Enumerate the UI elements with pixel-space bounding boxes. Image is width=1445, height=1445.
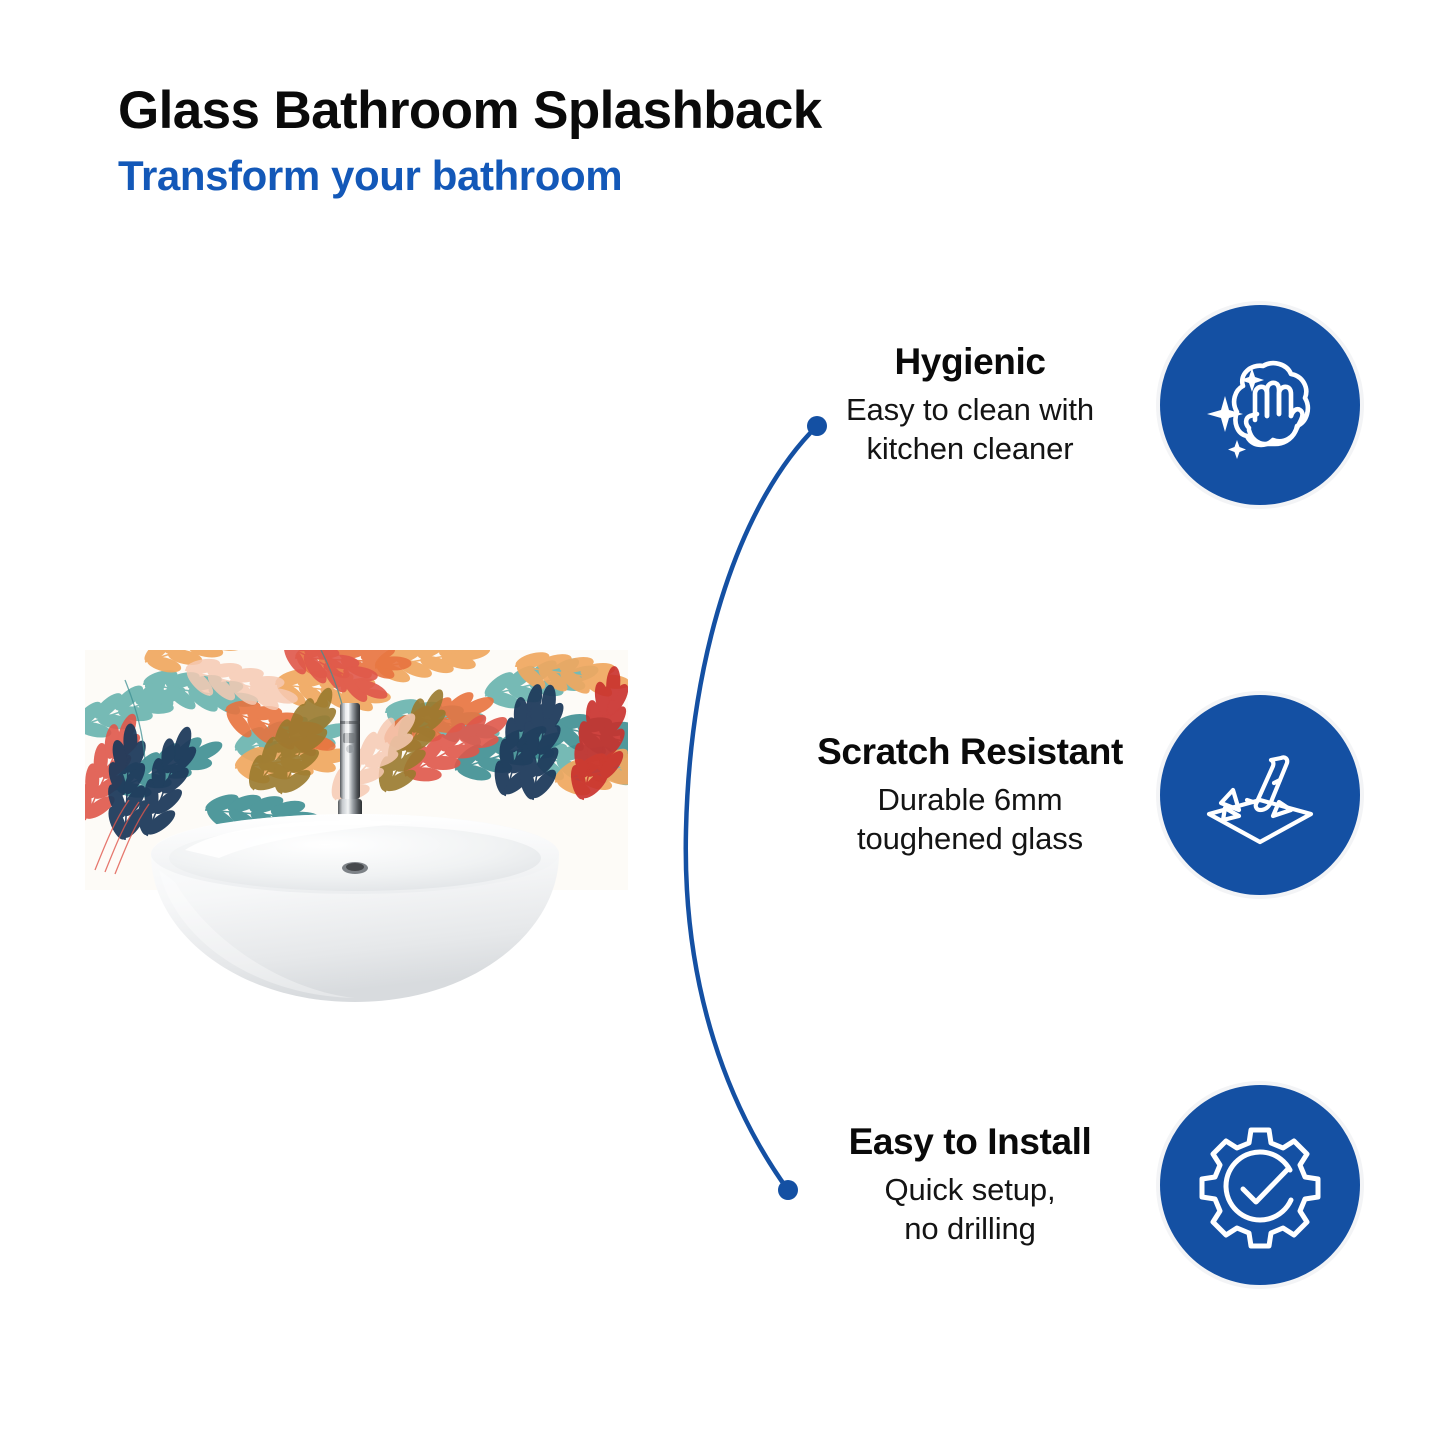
feature-description: Durable 6mm toughened glass (800, 780, 1140, 859)
knife-scratching-surface-icon (1160, 695, 1360, 895)
connector-curve (686, 426, 817, 1190)
infographic-canvas: Glass Bathroom Splashback Transform your… (0, 0, 1445, 1445)
feature-desc-line-1: Easy to clean with (800, 390, 1140, 430)
feature-desc-line-2: kitchen cleaner (800, 429, 1140, 469)
feature-desc-line-1: Durable 6mm (800, 780, 1140, 820)
feature-text-hygienic: Hygienic Easy to clean with kitchen clea… (800, 341, 1150, 469)
hand-wiping-cloth-sparkle-icon (1160, 305, 1360, 505)
feature-text-scratch-resistant: Scratch Resistant Durable 6mm toughened … (800, 731, 1150, 859)
product-photo (85, 650, 628, 1010)
connector-dot-bottom (778, 1180, 798, 1200)
ceramic-basin-icon (145, 810, 565, 1010)
feature-title: Easy to Install (800, 1121, 1140, 1162)
feature-description: Easy to clean with kitchen cleaner (800, 390, 1140, 469)
feature-row-easy-to-install: Easy to Install Quick setup, no drilling (800, 1080, 1410, 1290)
feature-row-scratch-resistant: Scratch Resistant Durable 6mm toughened … (800, 690, 1410, 900)
feature-text-easy-to-install: Easy to Install Quick setup, no drilling (800, 1121, 1150, 1249)
feature-row-hygienic: Hygienic Easy to clean with kitchen clea… (800, 300, 1410, 510)
header-block: Glass Bathroom Splashback Transform your… (118, 82, 1018, 199)
feature-description: Quick setup, no drilling (800, 1170, 1140, 1249)
page-subtitle: Transform your bathroom (118, 153, 1018, 199)
feature-desc-line-2: no drilling (800, 1209, 1140, 1249)
feature-desc-line-2: toughened glass (800, 819, 1140, 859)
feature-title: Scratch Resistant (800, 731, 1140, 772)
gear-checkmark-icon (1160, 1085, 1360, 1285)
feature-desc-line-1: Quick setup, (800, 1170, 1140, 1210)
page-title: Glass Bathroom Splashback (118, 82, 1018, 139)
feature-title: Hygienic (800, 341, 1140, 382)
